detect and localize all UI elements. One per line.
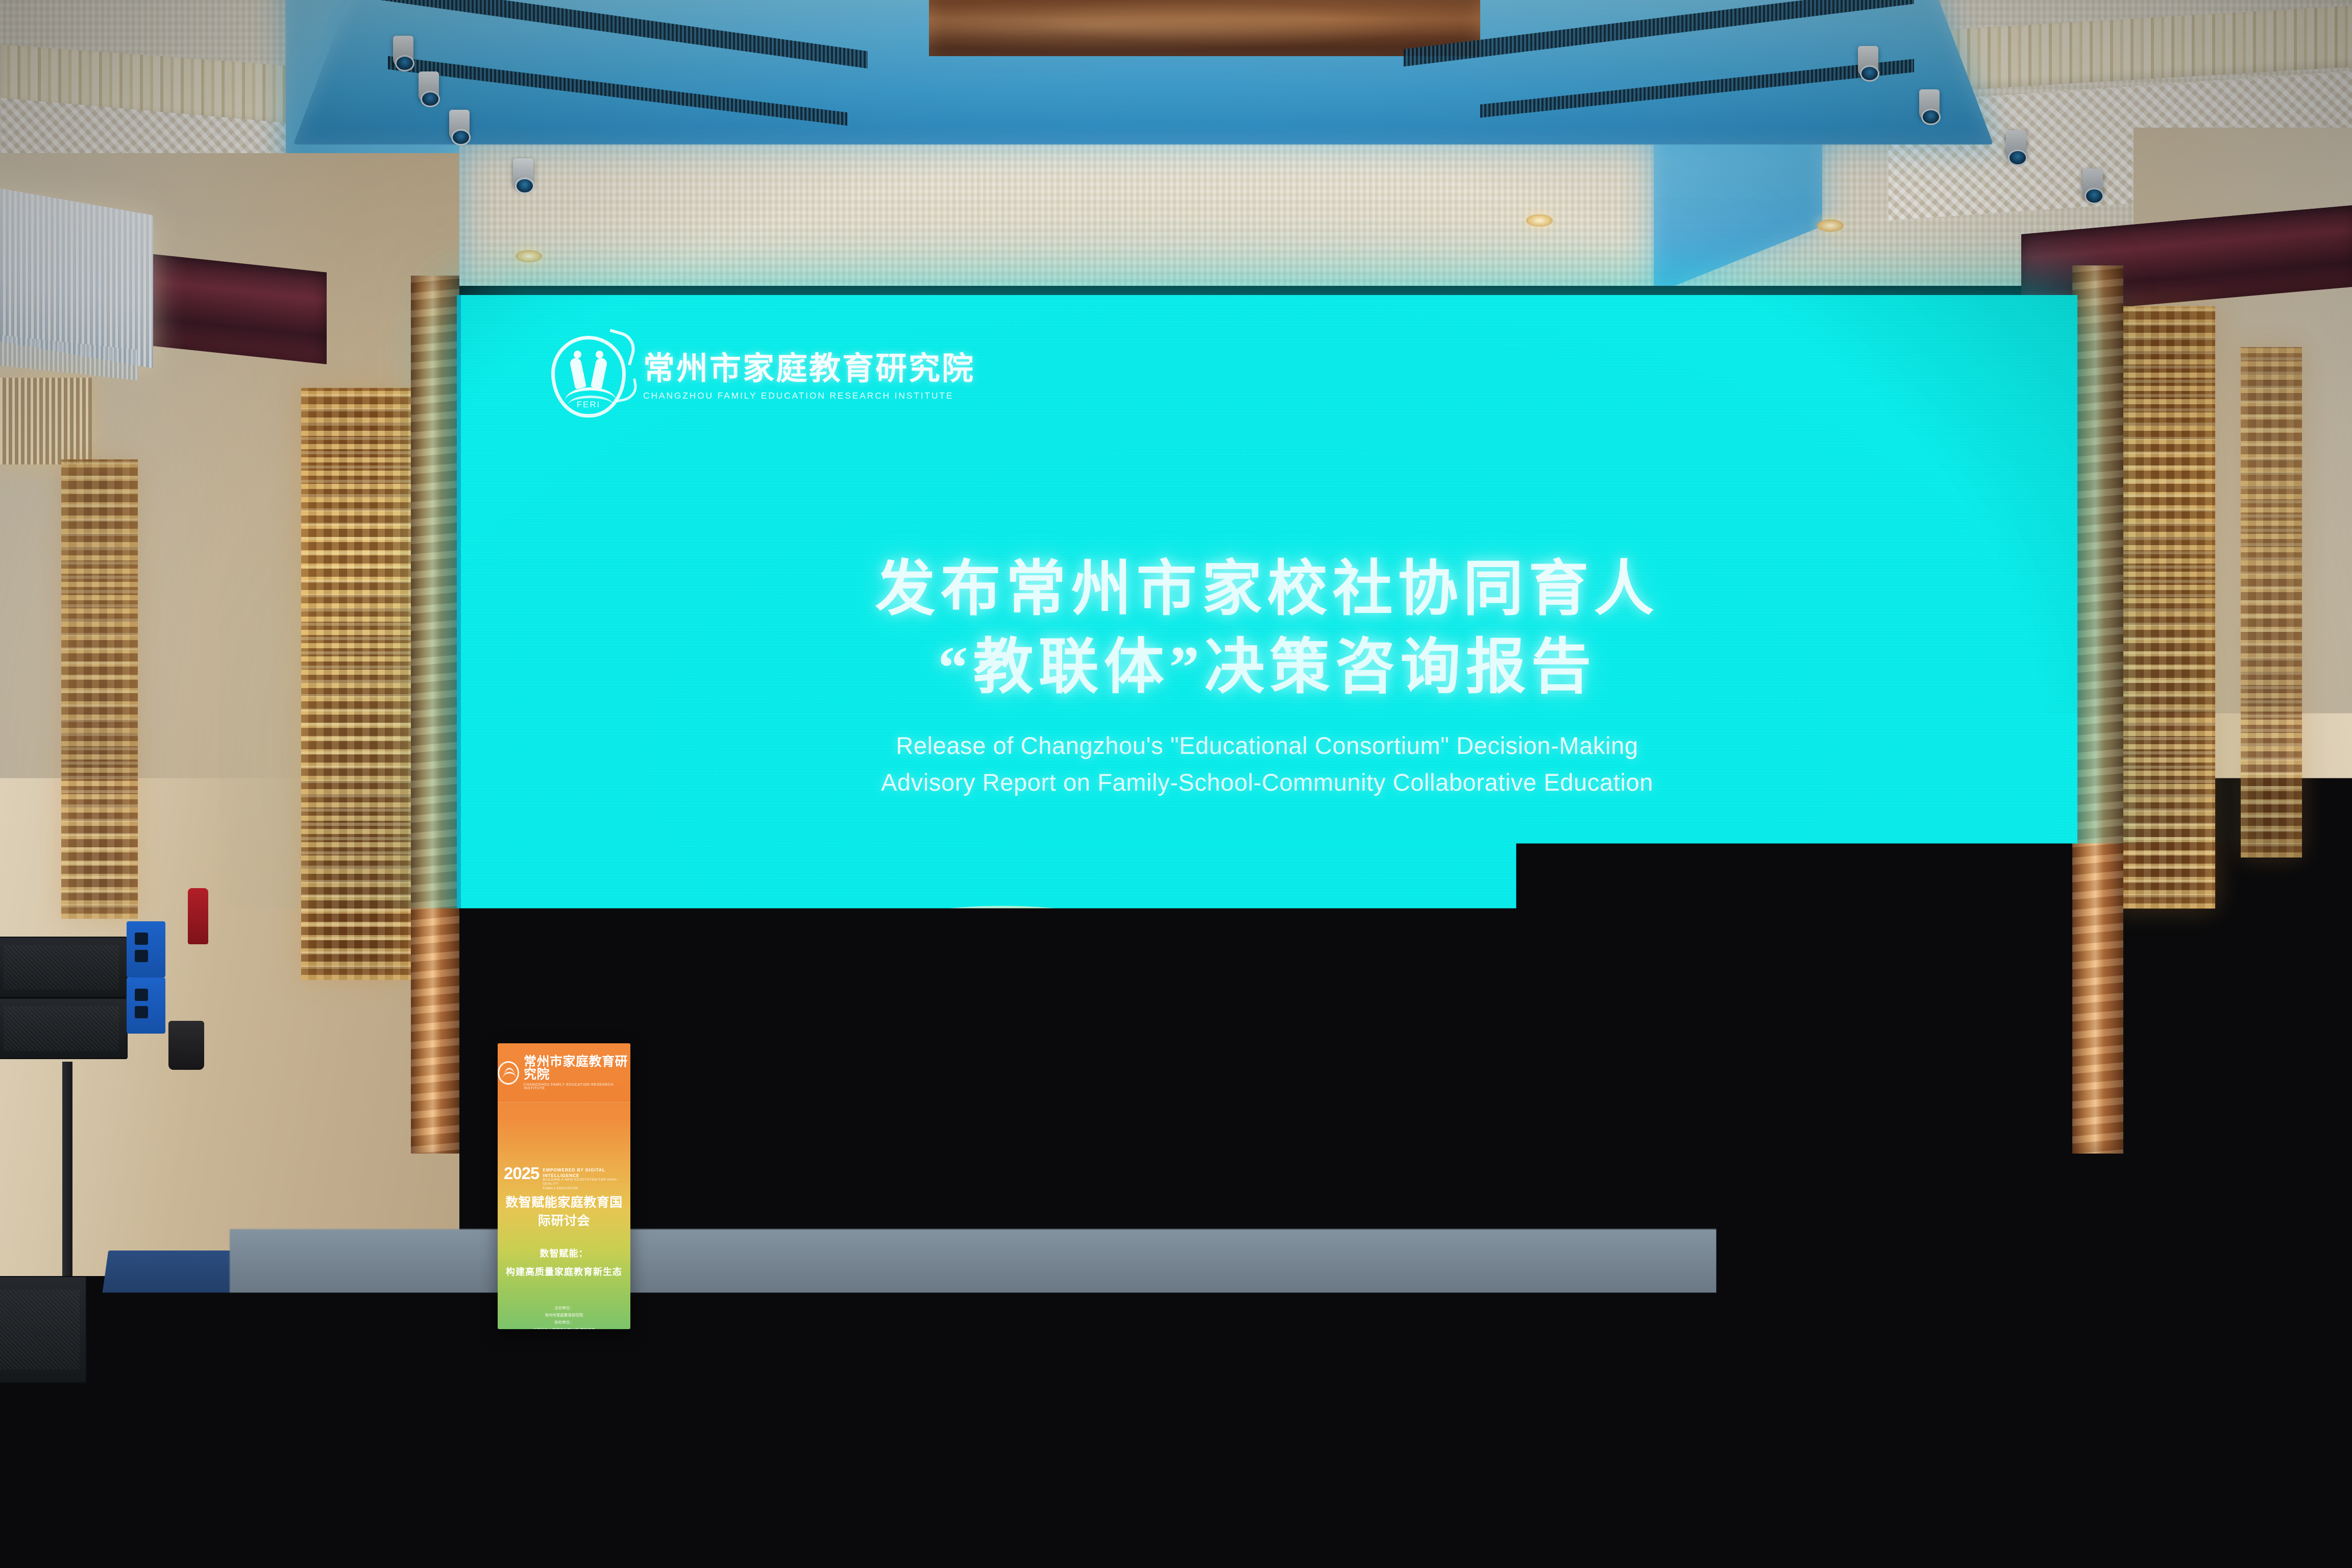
podium-en-line1: EMPOWERED BY DIGITAL INTELLIGENCE bbox=[543, 1167, 624, 1178]
ceiling-copper-panel bbox=[929, 0, 1480, 56]
person-body bbox=[169, 1511, 336, 1568]
bottle-cap bbox=[1979, 1419, 1989, 1429]
bottle-cap bbox=[381, 1420, 391, 1430]
figure-body-right-icon bbox=[591, 357, 608, 389]
gold-crystal-wall-right bbox=[2113, 306, 2215, 909]
audience-area: 纪佩来 bbox=[0, 1215, 2352, 1568]
podium-en-line2: BUILDING A NEW ECOSYSTEM FOR HIGH-QUALIT… bbox=[543, 1178, 624, 1186]
name-card bbox=[1577, 1465, 1637, 1512]
wave-svg bbox=[457, 831, 2077, 1142]
water-bottle[interactable] bbox=[1358, 1480, 1379, 1562]
track-spotlight-2 bbox=[419, 71, 439, 102]
bottle-label bbox=[1266, 1461, 1283, 1479]
speaker-port-3 bbox=[135, 989, 148, 1001]
speaker-port-2 bbox=[135, 950, 148, 962]
presenter-glasses bbox=[546, 981, 582, 992]
bottle-cap bbox=[1269, 1419, 1280, 1429]
podium-en-line3: FAMILY EDUCATION bbox=[543, 1187, 624, 1191]
audience-person-r2-1 bbox=[168, 1444, 337, 1568]
podium-emblem-icon bbox=[498, 1061, 519, 1085]
bottle-cap bbox=[950, 1418, 961, 1428]
name-card: 纪佩来 bbox=[388, 1473, 480, 1533]
podium-institute-name-cn: 常州市家庭教育研究院 bbox=[524, 1056, 630, 1081]
gold-crystal-wall-left-2 bbox=[61, 459, 138, 919]
figure-body-left-icon bbox=[569, 357, 586, 389]
water-bottle[interactable] bbox=[1975, 1428, 1993, 1487]
person-body bbox=[2165, 1503, 2332, 1568]
name-card-text: 纪佩来 bbox=[411, 1511, 457, 1530]
notepad[interactable] bbox=[1908, 1545, 2017, 1568]
podium-header-band: 常州市家庭教育研究院 CHANGZHOU FAMILY EDUCATION RE… bbox=[498, 1043, 630, 1102]
leaf-sprig-icon bbox=[602, 329, 639, 365]
gold-crystal-wall-left bbox=[301, 388, 411, 980]
chair[interactable] bbox=[2006, 1419, 2179, 1568]
blue-speaker-top bbox=[127, 921, 165, 977]
bottle-label bbox=[66, 1535, 88, 1554]
blue-speaker-bottom bbox=[127, 977, 165, 1034]
track-spotlight-1 bbox=[393, 36, 413, 66]
ceiling-downlight-5 bbox=[516, 250, 542, 262]
bottle-cap bbox=[1361, 1472, 1371, 1481]
slide-wave-graphic bbox=[457, 816, 2077, 1142]
podium-year: 2025 bbox=[504, 1166, 539, 1181]
bottle-cap bbox=[70, 1477, 80, 1486]
podium-year-row: 2025 EMPOWERED BY DIGITAL INTELLIGENCE B… bbox=[504, 1166, 624, 1191]
bottle-label bbox=[352, 1535, 374, 1554]
ceiling-downlight-4 bbox=[1817, 219, 1844, 232]
slide-title-cn-line2: “教联体”决策咨询报告 bbox=[457, 628, 2077, 706]
person-body bbox=[1389, 1506, 1556, 1568]
crystal-chandelier-secondary bbox=[0, 378, 92, 464]
bottle-cap bbox=[1627, 1416, 1637, 1426]
slide-title-cn-line1: 发布常州市家校社协同育人 bbox=[457, 550, 2077, 628]
slide-title-block: 发布常州市家校社协同育人 “教联体”决策咨询报告 Release of Chan… bbox=[457, 550, 2077, 800]
speaker-port-4 bbox=[135, 1006, 148, 1018]
institute-emblem-icon: FERI bbox=[551, 336, 626, 418]
audience-person-r2-2 bbox=[480, 1429, 653, 1568]
name-card bbox=[0, 1470, 66, 1506]
water-bottle[interactable] bbox=[352, 1483, 374, 1562]
track-spotlight-8 bbox=[2082, 168, 2103, 199]
ceiling-downlight-3 bbox=[1526, 214, 1553, 227]
institute-name-en: CHANGZHOU FAMILY EDUCATION RESEARCH INST… bbox=[643, 390, 975, 401]
bottle-label bbox=[1975, 1461, 1993, 1479]
gold-crystal-wall-right-2 bbox=[2241, 347, 2302, 857]
emblem-abbrev-label: FERI bbox=[555, 400, 622, 410]
water-bottle[interactable] bbox=[66, 1485, 88, 1562]
leaf-sprig-icon-2 bbox=[612, 378, 639, 402]
slide-subtitle-en-line2: Advisory Report on Family-School-Communi… bbox=[457, 765, 2077, 800]
slide-subtitle-en-line1: Release of Changzhou's "Educational Cons… bbox=[457, 728, 2077, 764]
institute-name-cn: 常州市家庭教育研究院 bbox=[643, 352, 975, 385]
figure-head-right-icon bbox=[596, 351, 603, 358]
audience-person-r2-7 bbox=[2164, 1434, 2333, 1568]
podium-english-block: EMPOWERED BY DIGITAL INTELLIGENCE BUILDI… bbox=[543, 1166, 624, 1191]
track-spotlight-5 bbox=[1858, 46, 1878, 77]
institute-logo: FERI 常州市家庭教育研究院 CHANGZHOU FAMILY EDUCATI… bbox=[551, 336, 975, 418]
audience-person-r2-3 bbox=[776, 1439, 944, 1568]
bottle-cap bbox=[356, 1474, 366, 1484]
bottle-label bbox=[947, 1460, 964, 1479]
line-array-speaker-top bbox=[0, 937, 128, 998]
fire-extinguisher bbox=[188, 888, 208, 944]
figure-head-left-icon bbox=[574, 351, 581, 358]
track-spotlight-3 bbox=[449, 110, 470, 140]
bottle-cap bbox=[2010, 1474, 2020, 1483]
water-bottle[interactable] bbox=[1266, 1428, 1283, 1487]
line-array-speaker-bottom bbox=[0, 998, 128, 1059]
track-spotlight-7 bbox=[2006, 130, 2026, 161]
bottle-label bbox=[1592, 1535, 1614, 1554]
audience-person-r2-6 bbox=[1674, 1429, 1848, 1568]
person-body bbox=[481, 1498, 652, 1568]
speaker-port-1 bbox=[135, 933, 148, 945]
waste-bin bbox=[168, 1021, 204, 1070]
led-presentation-screen[interactable]: FERI 常州市家庭教育研究院 CHANGZHOU FAMILY EDUCATI… bbox=[457, 295, 2077, 1142]
audience-person-r2-5 bbox=[1388, 1437, 1557, 1568]
track-spotlight-6 bbox=[1919, 89, 1940, 120]
name-card bbox=[1031, 1467, 1092, 1516]
person-body bbox=[1675, 1501, 1847, 1568]
track-spotlight-4 bbox=[513, 158, 533, 189]
water-bottle[interactable] bbox=[947, 1427, 964, 1487]
bottle-label bbox=[1358, 1535, 1379, 1554]
podium-institute-name-en: CHANGZHOU FAMILY EDUCATION RESEARCH INST… bbox=[524, 1083, 630, 1090]
conference-hall-scene: FERI 常州市家庭教育研究院 CHANGZHOU FAMILY EDUCATI… bbox=[0, 0, 2352, 1568]
